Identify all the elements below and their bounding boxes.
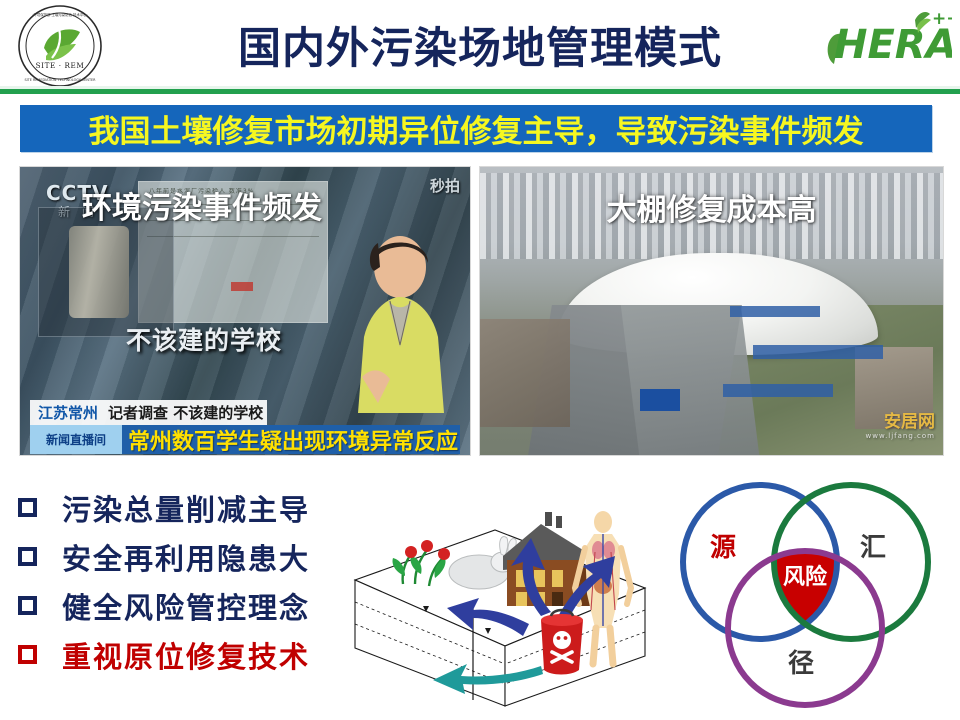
checkbox-square-icon	[18, 645, 37, 664]
ticker-location: 江苏常州	[34, 402, 102, 423]
road-sign	[640, 389, 680, 411]
soil-contamination-exposure-diagram	[345, 488, 655, 708]
barrel-object	[69, 226, 129, 318]
checkbox-square-icon	[18, 498, 37, 517]
highway-right	[621, 305, 759, 455]
list-item[interactable]: 健全风险管控理念	[18, 581, 358, 630]
hera-logo: HERA ++	[820, 6, 952, 80]
watermark-text: 安居网	[884, 412, 935, 432]
blue-roof-3	[730, 306, 820, 317]
venn-label-sink: 汇	[860, 533, 886, 563]
banner-text: 我国土壤修复市场初期异位修复主导，导致污染事件频发	[89, 106, 864, 151]
news-anchor	[338, 227, 460, 413]
venn-label-source: 源	[710, 533, 736, 563]
dome-remediation-photo: 安居网 www.ljfang.com 大棚修复成本高	[479, 166, 944, 456]
svg-text:SITE REMEDIATION TECHNOLOGY CE: SITE REMEDIATION TECHNOLOGY CENTER	[24, 78, 96, 82]
bullet-label: 污染总量削减主导	[62, 487, 310, 529]
list-item[interactable]: 安全再利用隐患大	[18, 532, 358, 581]
header-divider	[0, 89, 960, 94]
news-ticker-secondary: 新闻直播间 常州数百学生疑出现环境异常反应	[30, 425, 460, 454]
skyline	[480, 173, 943, 259]
news-ticker-primary: 江苏常州 记者调查 不该建的学校	[30, 400, 267, 425]
section-banner: 我国土壤修复市场初期异位修复主导，导致污染事件频发	[20, 105, 932, 152]
inset-video-panel	[38, 207, 174, 337]
bullet-label: 健全风险管控理念	[62, 585, 310, 627]
checkbox-square-icon	[18, 547, 37, 566]
tv-headline: 不该建的学校	[126, 321, 282, 357]
demolition-rubble	[480, 319, 570, 427]
page-title: 国内外污染场地管理模式	[150, 12, 810, 78]
watermark-url: www.ljfang.com	[807, 432, 935, 440]
site-watermark: 安居网 www.ljfang.com	[807, 407, 935, 445]
bullet-list: 污染总量削减主导 安全再利用隐患大 健全风险管控理念 重视原位修复技术	[18, 483, 358, 679]
ticker-text: 记者调查 不该建的学校	[102, 402, 263, 423]
site-rem-seal-logo: SITE · REM ·环境保护部 土壤污染防治 技术中心· SITE REME…	[12, 4, 108, 88]
bullet-label: 安全再利用隐患大	[62, 536, 310, 578]
document-text: 八年前是水泥厂污染检人 数准3%	[149, 188, 317, 196]
ticker2-location: 新闻直播间	[30, 431, 122, 448]
slide-root: SITE · REM ·环境保护部 土壤污染防治 技术中心· SITE REME…	[0, 0, 960, 720]
ticker2-text: 常州数百学生疑出现环境异常反应	[122, 424, 458, 456]
blue-roof-1	[753, 345, 883, 359]
checkbox-square-icon	[18, 596, 37, 615]
source-pathway-receptor-venn: 源 汇 径 风险	[655, 474, 955, 716]
cctv-news-screenshot: CCTV 新 闻 秒拍 八年前是水泥厂污染检人 数准3% 不该建的学校	[19, 166, 471, 456]
venn-label-pathway: 径	[788, 649, 814, 679]
hera-superscript: ++	[932, 9, 952, 29]
cctv-channel-logo: CCTV	[46, 181, 108, 205]
venn-label-risk: 风险	[783, 564, 828, 590]
svg-text:·环境保护部 土壤污染防治 技术中心·: ·环境保护部 土壤污染防治 技术中心·	[32, 12, 87, 17]
bullet-label: 重视原位修复技术	[62, 634, 310, 676]
toxic-barrel-icon	[541, 610, 583, 675]
weibo-watermark: 秒拍	[430, 175, 460, 196]
document-highlight	[231, 282, 253, 291]
list-item[interactable]: 重视原位修复技术	[18, 630, 358, 679]
seal-text: SITE · REM	[36, 61, 85, 70]
blue-roof-2	[723, 384, 833, 397]
slide-header: SITE · REM ·环境保护部 土壤污染防治 技术中心· SITE REME…	[0, 0, 960, 92]
list-item[interactable]: 污染总量削减主导	[18, 483, 358, 532]
